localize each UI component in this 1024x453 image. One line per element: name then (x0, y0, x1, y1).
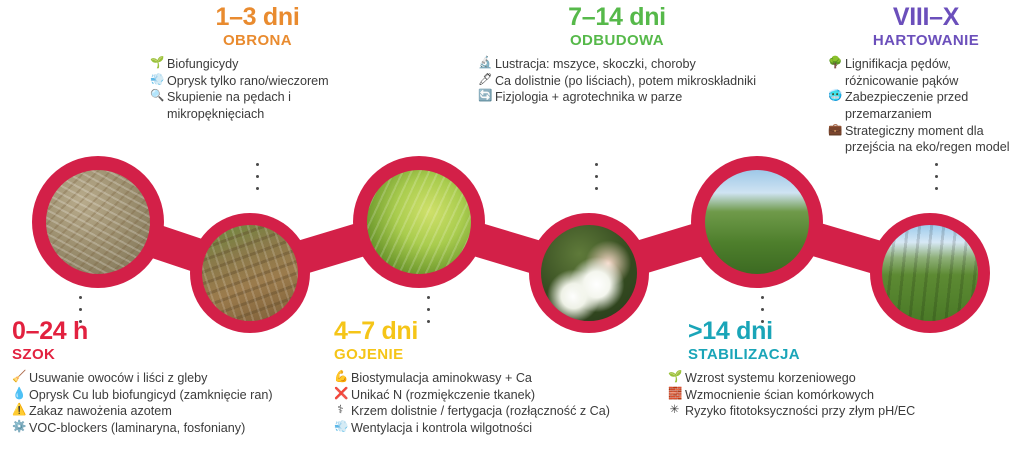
list-item: ⚙️ VOC-blockers (laminaryna, fosfoniany) (12, 420, 332, 437)
list-item-text: Oprysk Cu lub biofungicyd (zamknięcie ra… (29, 387, 332, 404)
magnifier-icon: 🔍 (150, 89, 163, 105)
list-item-text: Oprysk tylko rano/wieczorem (167, 73, 365, 90)
cold-face-icon: 🥶 (828, 89, 841, 105)
stage-items-szok: 🧹 Usuwanie owoców i liści z gleby 💧 Opry… (12, 370, 332, 436)
stage-days-obrona: 1–3 dni (150, 4, 365, 30)
list-item-text: Skupienie na pędach i mikropęknięciach (167, 89, 365, 122)
cross-mark-icon: ❌ (334, 387, 347, 403)
sync-icon: 🔄 (478, 89, 491, 105)
white-flowers-photo (541, 225, 637, 321)
list-item: ⚠️ Zakaz nawożenia azotem (12, 403, 332, 420)
spray-icon: 💨 (150, 73, 163, 89)
list-item-text: Biofungicydy (167, 56, 365, 73)
node-obrona (190, 213, 310, 333)
list-item: 💼 Strategiczny moment dla przejścia na e… (828, 123, 1024, 156)
plantation-rows-photo (882, 225, 978, 321)
node-odbudowa (529, 213, 649, 333)
flexed-biceps-icon: 💪 (334, 370, 347, 386)
list-item-text: Biostymulacja aminokwasy + Ca (351, 370, 664, 387)
stage-phase-gojenie: GOJENIE (334, 346, 664, 363)
list-item: 🌱 Wzrost systemu korzeniowego (668, 370, 998, 387)
stage-phase-odbudowa: ODBUDOWA (472, 32, 762, 49)
orchard-photo (705, 170, 809, 274)
stage-items-gojenie: 💪 Biostymulacja aminokwasy + Ca ❌ Unikać… (334, 370, 664, 436)
stage-phase-szok: SZOK (12, 346, 332, 363)
infographic-canvas: 1–3 dni OBRONA 🌱 Biofungicydy 💨 Oprysk t… (0, 0, 1024, 453)
stage-phase-hartowanie: HARTOWANIE (828, 32, 1024, 49)
node-stabilizacja (691, 156, 823, 288)
list-item-text: Strategiczny moment dla przejścia na eko… (845, 123, 1024, 156)
list-item: 🔄 Fizjologia + agrotechnika w parze (478, 89, 756, 106)
list-item-text: Lustracja: mszyce, skoczki, choroby (495, 56, 756, 73)
stage-days-szok: 0–24 h (12, 318, 332, 344)
list-item-text: Unikać N (rozmiękczenie tkanek) (351, 387, 664, 404)
stage-days-gojenie: 4–7 dni (334, 318, 664, 344)
list-item: 🥶 Zabezpieczenie przed przemarzaniem (828, 89, 1024, 122)
list-item-text: Lignifikacja pędów, różnicowanie pąków (845, 56, 1024, 89)
herb-icon: ⚕ (334, 403, 347, 419)
tree-icon: 🌳 (828, 56, 841, 72)
stage-days-odbudowa: 7–14 dni (472, 4, 762, 30)
list-item-text: VOC-blockers (laminaryna, fosfoniany) (29, 420, 332, 437)
stage-block-odbudowa: 7–14 dni ODBUDOWA 🔬 Lustracja: mszyce, s… (472, 4, 762, 106)
list-item-text: Krzem dolistnie / fertygacja (rozłącznoś… (351, 403, 664, 420)
seedling-icon: 🌱 (150, 56, 163, 72)
stage-items-stabilizacja: 🌱 Wzrost systemu korzeniowego 🧱 Wzmocnie… (668, 370, 998, 420)
warning-icon: ⚠️ (12, 403, 25, 419)
dry-canes-photo (46, 170, 150, 274)
list-item: 🖊 Ca dolistnie (po liściach), potem mikr… (478, 73, 756, 90)
stage-items-odbudowa: 🔬 Lustracja: mszyce, skoczki, choroby 🖊 … (478, 56, 756, 106)
node-szok (32, 156, 164, 288)
stage-items-hartowanie: 🌳 Lignifikacja pędów, różnicowanie pąków… (828, 56, 1024, 156)
list-item: ❌ Unikać N (rozmiękczenie tkanek) (334, 387, 664, 404)
list-item: 💨 Wentylacja i kontrola wilgotności (334, 420, 664, 437)
brick-icon: 🧱 (668, 387, 681, 403)
stage-days-stabilizacja: >14 dni (668, 318, 998, 344)
list-item-text: Ryzyko fitotoksyczności przy złym pH/EC (685, 403, 998, 420)
list-item: 🧹 Usuwanie owoców i liści z gleby (12, 370, 332, 387)
stage-items-obrona: 🌱 Biofungicydy 💨 Oprysk tylko rano/wiecz… (150, 56, 365, 122)
soil-rows-photo (202, 225, 298, 321)
list-item: ⚕ Krzem dolistnie / fertygacja (rozłączn… (334, 403, 664, 420)
node-hartowanie (870, 213, 990, 333)
list-item: ✳ Ryzyko fitotoksyczności przy złym pH/E… (668, 403, 998, 420)
stage-block-hartowanie: VIII–X HARTOWANIE 🌳 Lignifikacja pędów, … (828, 4, 1024, 156)
list-item-text: Wzmocnienie ścian komórkowych (685, 387, 998, 404)
list-item: 💪 Biostymulacja aminokwasy + Ca (334, 370, 664, 387)
seedling-icon: 🌱 (668, 370, 681, 386)
microscope-icon: 🔬 (478, 56, 491, 72)
green-buds-photo (367, 170, 471, 274)
list-item: 🌱 Biofungicydy (150, 56, 365, 73)
list-item-text: Wentylacja i kontrola wilgotności (351, 420, 664, 437)
list-item-text: Fizjologia + agrotechnika w parze (495, 89, 756, 106)
gear-icon: ⚙️ (12, 420, 25, 436)
droplet-icon: 💧 (12, 387, 25, 403)
list-item: 💧 Oprysk Cu lub biofungicyd (zamknięcie … (12, 387, 332, 404)
list-item: 🧱 Wzmocnienie ścian komórkowych (668, 387, 998, 404)
stage-phase-stabilizacja: STABILIZACJA (668, 346, 998, 363)
pen-icon: 🖊 (478, 73, 491, 89)
stage-block-szok: 0–24 h SZOK 🧹 Usuwanie owoców i liści z … (12, 318, 332, 437)
list-item-text: Zabezpieczenie przed przemarzaniem (845, 89, 1024, 122)
briefcase-icon: 💼 (828, 123, 841, 139)
stage-block-stabilizacja: >14 dni STABILIZACJA 🌱 Wzrost systemu ko… (668, 318, 998, 420)
node-gojenie (353, 156, 485, 288)
list-item: 🔍 Skupienie na pędach i mikropęknięciach (150, 89, 365, 122)
list-item: 💨 Oprysk tylko rano/wieczorem (150, 73, 365, 90)
stage-block-gojenie: 4–7 dni GOJENIE 💪 Biostymulacja aminokwa… (334, 318, 664, 437)
list-item: 🌳 Lignifikacja pędów, różnicowanie pąków (828, 56, 1024, 89)
dots-connector-odbudowa (594, 163, 598, 190)
broom-icon: 🧹 (12, 370, 25, 386)
list-item-text: Ca dolistnie (po liściach), potem mikros… (495, 73, 756, 90)
stage-phase-obrona: OBRONA (150, 32, 365, 49)
list-item-text: Zakaz nawożenia azotem (29, 403, 332, 420)
list-item-text: Usuwanie owoców i liści z gleby (29, 370, 332, 387)
dots-connector-obrona (255, 163, 259, 190)
sparkle-icon: ✳ (668, 403, 681, 419)
wind-icon: 💨 (334, 420, 347, 436)
list-item-text: Wzrost systemu korzeniowego (685, 370, 998, 387)
list-item: 🔬 Lustracja: mszyce, skoczki, choroby (478, 56, 756, 73)
dots-connector-hartowanie (934, 163, 938, 190)
stage-days-hartowanie: VIII–X (828, 4, 1024, 30)
stage-block-obrona: 1–3 dni OBRONA 🌱 Biofungicydy 💨 Oprysk t… (150, 4, 365, 123)
